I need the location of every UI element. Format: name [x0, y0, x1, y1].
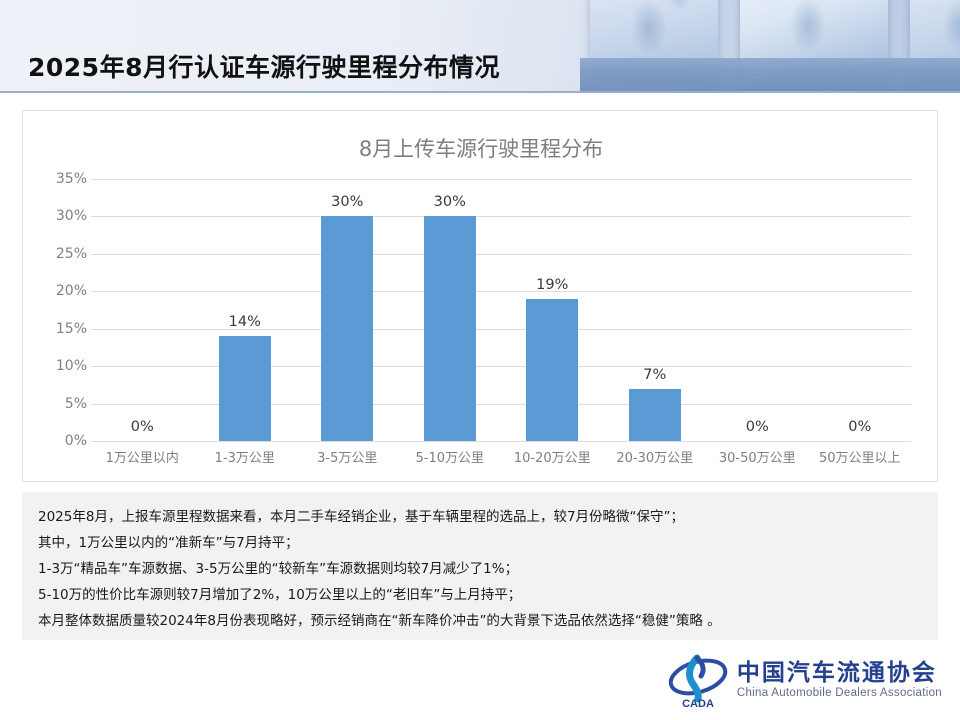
chart-x-axis: 1万公里以内1-3万公里3-5万公里5-10万公里10-20万公里20-30万公… [91, 447, 911, 466]
note-line: 1-3万“精品车”车源数据、3-5万公里的“较新车”车源数据则均较7月减少了1%… [38, 556, 922, 582]
note-line: 2025年8月，上报车源里程数据来看，本月二手车经销企业，基于车辆里程的选品上，… [38, 504, 922, 530]
logo-title-cn: 中国汽车流通协会 [737, 661, 942, 686]
y-axis-tick-label: 0% [35, 433, 87, 449]
notes-block: 2025年8月，上报车源里程数据来看，本月二手车经销企业，基于车辆里程的选品上，… [22, 492, 938, 640]
bar-slot: 7% [604, 179, 707, 441]
footer-logo: CADA 中国汽车流通协会 China Automobile Dealers A… [667, 650, 942, 712]
bar-value-label: 30% [296, 194, 399, 210]
logo-text-group: 中国汽车流通协会 China Automobile Dealers Associ… [737, 661, 942, 701]
y-axis-tick-label: 10% [35, 358, 87, 374]
chart-bar [629, 389, 681, 441]
y-axis-tick-label: 20% [35, 283, 87, 299]
bar-slot: 30% [399, 179, 502, 441]
bar-slot: 0% [91, 179, 194, 441]
y-axis-tick-label: 30% [35, 208, 87, 224]
page-title: 2025年8月行认证车源行驶里程分布情况 [28, 48, 500, 84]
bar-slot: 19% [501, 179, 604, 441]
chart-bar [219, 336, 271, 441]
bar-slot: 0% [809, 179, 912, 441]
y-axis-tick-label: 5% [35, 396, 87, 412]
x-axis-tick-label: 3-5万公里 [296, 447, 399, 466]
header-decoration-cubes [580, 0, 960, 92]
bar-value-label: 0% [706, 419, 809, 435]
chart-bar [321, 216, 373, 441]
x-axis-tick-label: 10-20万公里 [501, 447, 604, 466]
logo-title-en: China Automobile Dealers Association [737, 686, 942, 701]
bar-slot: 30% [296, 179, 399, 441]
bar-slot: 0% [706, 179, 809, 441]
chart-bar [526, 299, 578, 441]
y-axis-tick-label: 25% [35, 246, 87, 262]
chart-bar [424, 216, 476, 441]
header-banner: 2025年8月行认证车源行驶里程分布情况 [0, 0, 960, 92]
x-axis-tick-label: 1-3万公里 [194, 447, 297, 466]
note-line: 其中，1万公里以内的“准新车”与7月持平； [38, 530, 922, 556]
chart-panel: 8月上传车源行驶里程分布 35%30%25%20%15%10%5%0% 0%14… [22, 110, 938, 482]
x-axis-tick-label: 1万公里以内 [91, 447, 194, 466]
x-axis-tick-label: 20-30万公里 [604, 447, 707, 466]
bar-value-label: 0% [91, 419, 194, 435]
note-line: 5-10万的性价比车源则较7月增加了2%，10万公里以上的“老旧车”与上月持平； [38, 582, 922, 608]
bar-value-label: 19% [501, 277, 604, 293]
x-axis-tick-label: 5-10万公里 [399, 447, 502, 466]
y-axis-tick-label: 15% [35, 321, 87, 337]
x-axis-tick-label: 50万公里以上 [809, 447, 912, 466]
chart-bars: 0%14%30%30%19%7%0%0% [91, 179, 911, 441]
chart-title: 8月上传车源行驶里程分布 [23, 133, 939, 163]
header-divider [0, 91, 960, 93]
svg-text:CADA: CADA [682, 698, 714, 710]
bar-value-label: 14% [194, 314, 297, 330]
chart-plot-area: 35%30%25%20%15%10%5%0% 0%14%30%30%19%7%0… [91, 179, 911, 441]
bar-value-label: 7% [604, 367, 707, 383]
gridline [91, 441, 911, 442]
note-line: 本月整体数据质量较2024年8月份表现略好，预示经销商在“新车降价冲击”的大背景… [38, 608, 922, 634]
cada-logo-icon: CADA [667, 652, 729, 710]
bar-value-label: 30% [399, 194, 502, 210]
y-axis-tick-label: 35% [35, 171, 87, 187]
bar-value-label: 0% [809, 419, 912, 435]
decor-floor [580, 58, 960, 92]
x-axis-tick-label: 30-50万公里 [706, 447, 809, 466]
bar-slot: 14% [194, 179, 297, 441]
